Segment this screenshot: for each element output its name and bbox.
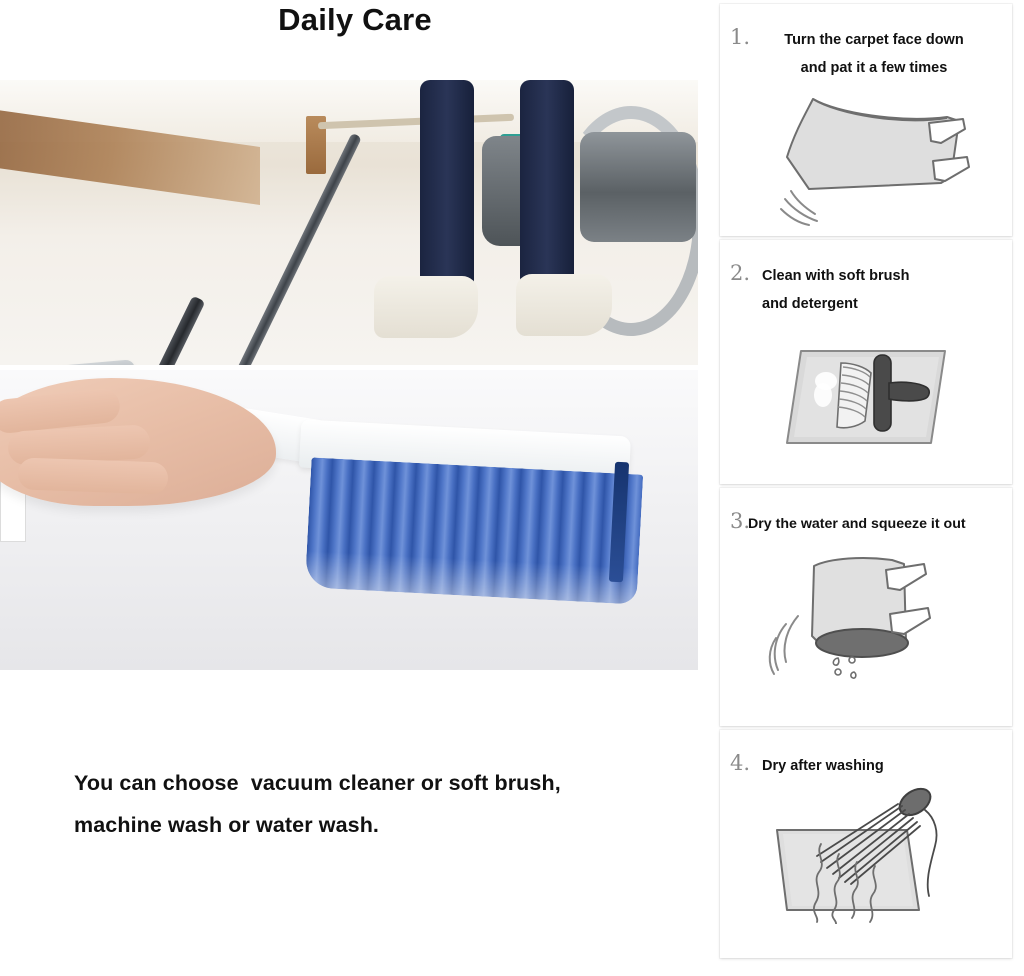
- step-1-illustration: [720, 82, 1012, 232]
- step-2-number: 2.: [730, 262, 756, 284]
- vacuum-canister-body: [580, 132, 696, 242]
- step-3-illustration: [720, 538, 1012, 690]
- step-card-3[interactable]: 3. Dry the water and squeeze it out: [720, 488, 1012, 726]
- step-4-text-line-1: Dry after washing: [762, 752, 1002, 780]
- step-3-header: 3. Dry the water and squeeze it out: [720, 488, 1012, 538]
- step-2-text-line-1: Clean with soft brush: [762, 262, 1002, 290]
- carpet-shake-icon: [751, 87, 981, 227]
- step-2-text: Clean with soft brush and detergent: [756, 262, 1002, 318]
- person-leg-right: [520, 80, 574, 288]
- step-4-number: 4.: [730, 752, 756, 774]
- photo-vacuum-cleaning: [0, 80, 698, 365]
- steps-column: 1. Turn the carpet face down and pat it …: [716, 0, 1024, 976]
- daily-care-infographic: Daily Care You can choose v: [0, 0, 1024, 976]
- step-4-header: 4. Dry after washing: [720, 730, 1012, 780]
- step-4-text: Dry after washing: [756, 752, 1002, 780]
- step-1-number: 1.: [730, 26, 756, 48]
- person-sock-right: [516, 274, 612, 336]
- finger-ring: [17, 457, 168, 494]
- step-1-header: 1. Turn the carpet face down and pat it …: [720, 4, 1012, 82]
- step-3-text: Dry the water and squeeze it out: [748, 510, 1002, 538]
- page-title: Daily Care: [0, 2, 710, 38]
- step-1-text: Turn the carpet face down and pat it a f…: [756, 26, 1002, 82]
- step-3-text-line-1: Dry the water and squeeze it out: [748, 510, 1002, 538]
- photo-brush-cleaning: [0, 370, 698, 670]
- care-caption: You can choose vacuum cleaner or soft br…: [74, 762, 694, 846]
- step-2-header: 2. Clean with soft brush and detergent: [720, 240, 1012, 318]
- step-1-text-line-1: Turn the carpet face down: [756, 26, 992, 54]
- carpet-shower-icon: [759, 784, 974, 924]
- carpet-brush-icon: [779, 337, 954, 457]
- person-leg-left: [420, 80, 474, 292]
- carpet-squeeze-icon: [754, 544, 979, 684]
- brush-bristles: [305, 457, 643, 604]
- caption-line-1: You can choose vacuum cleaner or soft br…: [74, 762, 694, 804]
- step-card-2[interactable]: 2. Clean with soft brush and detergent: [720, 240, 1012, 484]
- person-sock-left: [374, 276, 478, 338]
- step-2-text-line-2: and detergent: [762, 290, 1002, 318]
- step-1-text-line-2: and pat it a few times: [756, 54, 992, 82]
- step-card-4[interactable]: 4. Dry after washing: [720, 730, 1012, 958]
- caption-line-2: machine wash or water wash.: [74, 804, 694, 846]
- step-4-illustration: [720, 780, 1012, 928]
- step-card-1[interactable]: 1. Turn the carpet face down and pat it …: [720, 4, 1012, 236]
- step-2-illustration: [720, 318, 1012, 476]
